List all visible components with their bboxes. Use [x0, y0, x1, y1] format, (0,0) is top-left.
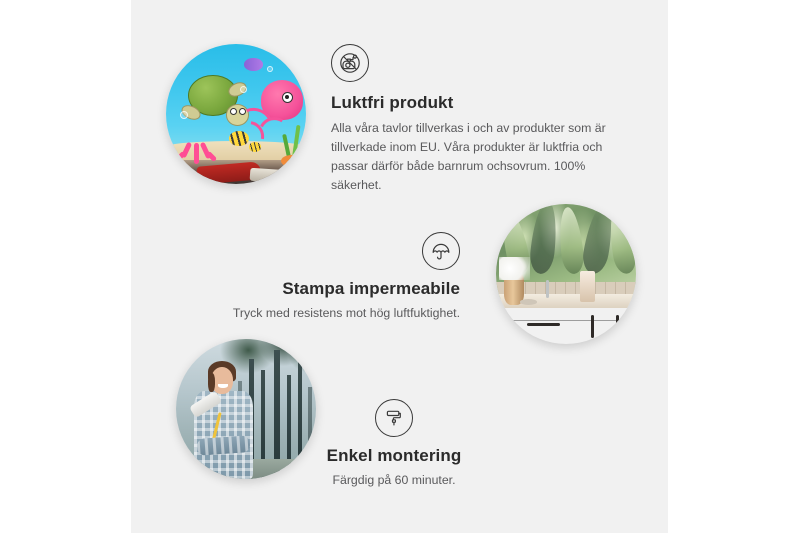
feature-title: Luktfri produkt	[331, 93, 623, 113]
fish-icon	[244, 58, 262, 71]
feature-easy-mounting: Enkel montering Färgdig på 60 minuter.	[274, 399, 514, 490]
feature-title: Stampa impermeabile	[188, 279, 460, 299]
feature-body: Färgdig på 60 minuter.	[274, 471, 514, 490]
flowers-icon	[499, 257, 530, 279]
product-image-underwater-scene	[166, 44, 306, 184]
fish-icon	[229, 131, 249, 146]
octopus-eye	[282, 92, 293, 103]
underwater-scene-art	[166, 44, 306, 184]
drawer-handle	[527, 323, 561, 326]
cabinet-handle	[591, 315, 594, 339]
shipwreck-sail	[250, 167, 287, 182]
feature-body: Alla våra tavlor tillverkas i och av pro…	[331, 119, 623, 195]
feature-icon-wrap	[274, 399, 514, 446]
soap-dish	[520, 299, 537, 305]
soap-bottle	[580, 271, 595, 302]
feature-odour-free: Luktfri produkt Alla våra tavlor tillver…	[331, 44, 623, 195]
person-smile	[218, 384, 228, 388]
coral-icon	[177, 128, 216, 164]
faucet-icon	[546, 280, 549, 298]
feature-water-resistant: Stampa impermeabile Tryck med resistens …	[188, 232, 460, 323]
feature-icon-wrap	[331, 44, 623, 82]
vanity-cabinet	[496, 306, 636, 344]
fish-icon	[249, 142, 262, 152]
cabinet-handle	[616, 315, 619, 339]
umbrella-icon	[422, 232, 460, 270]
feature-icon-wrap	[188, 232, 460, 279]
feature-body: Tryck med resistens mot hög luftfuktighe…	[188, 304, 460, 323]
person-hair	[208, 373, 215, 393]
no-fragrance-icon	[331, 44, 369, 82]
product-feature-panel: Luktfri produkt Alla våra tavlor tillver…	[0, 0, 800, 533]
feature-title: Enkel montering	[274, 446, 514, 466]
bathroom-scene-art	[496, 204, 636, 344]
product-image-bathroom-scene	[496, 204, 636, 344]
paint-roller-icon	[375, 399, 413, 437]
